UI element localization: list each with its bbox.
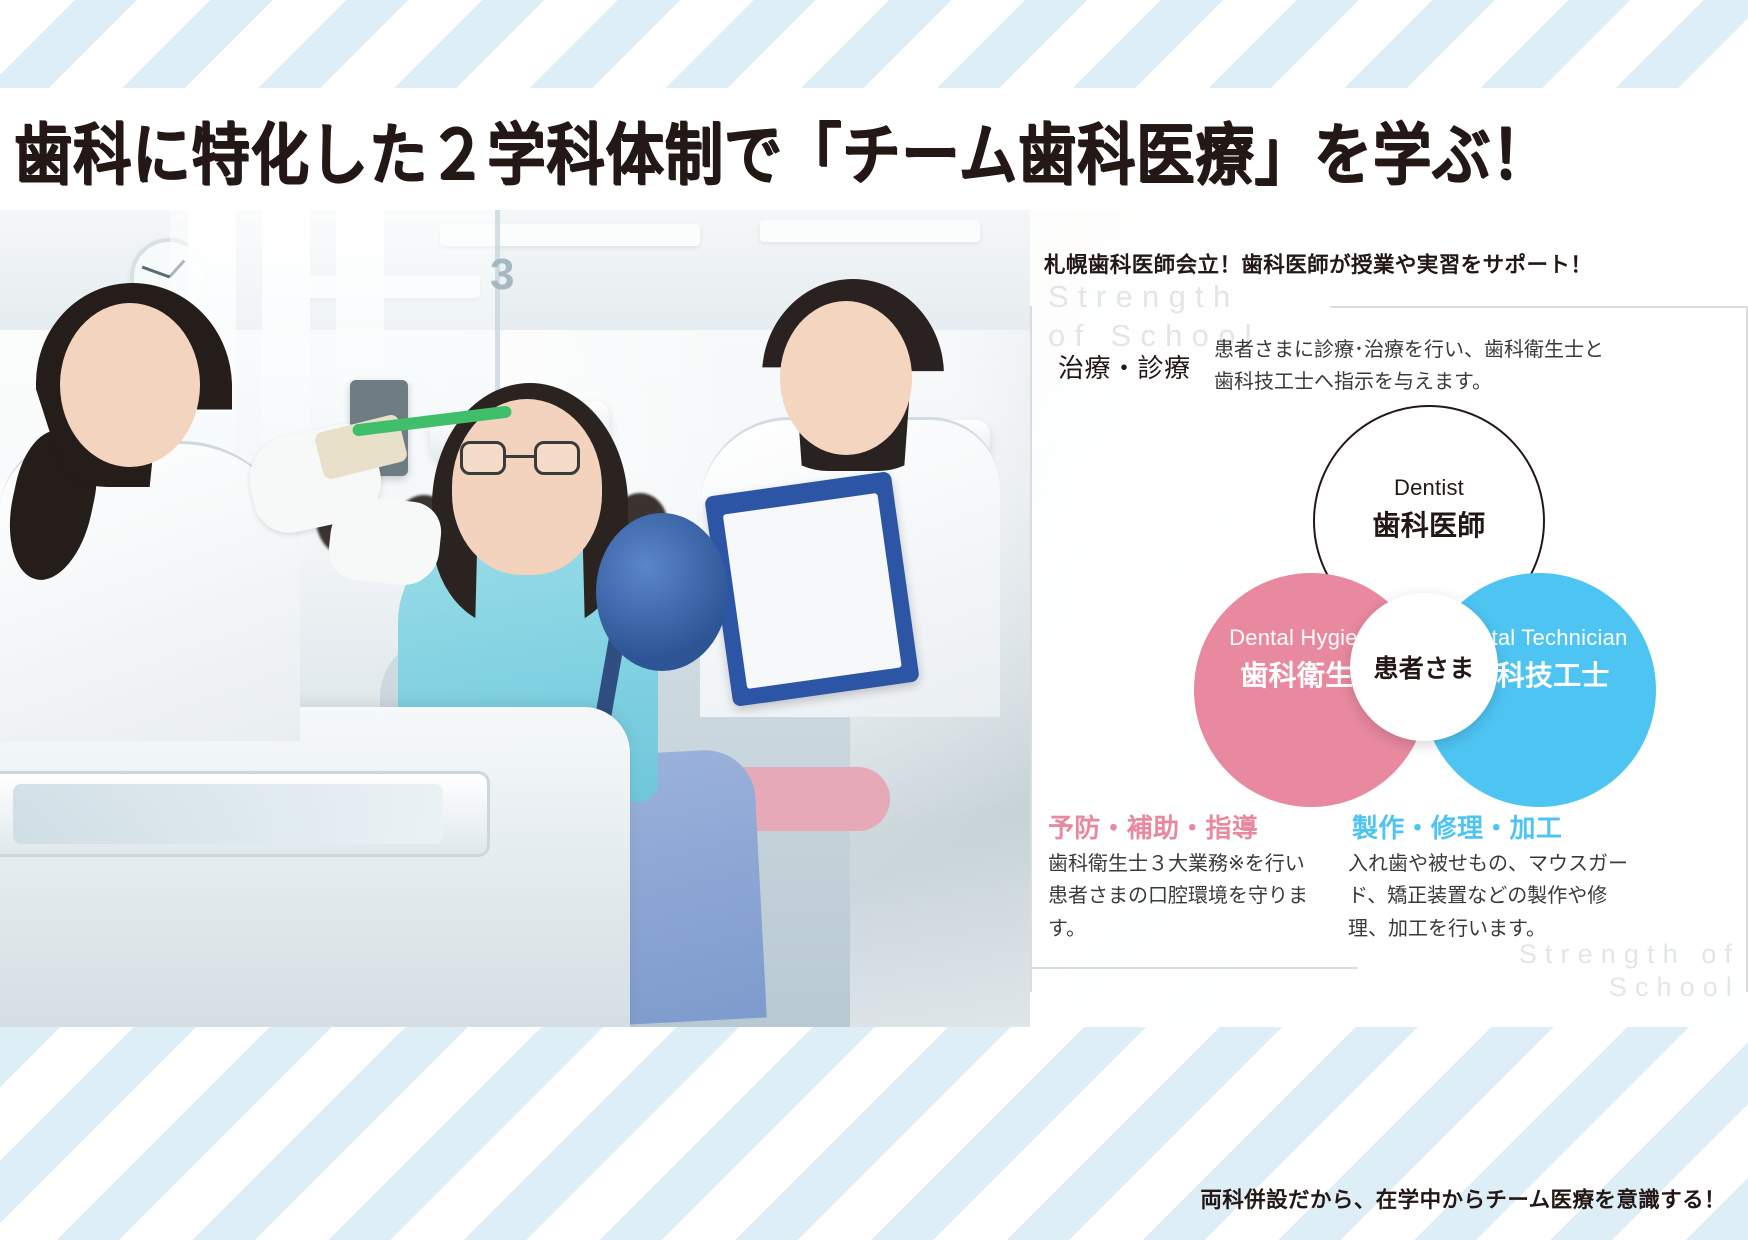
page-title: 歯科に特化した２学科体制で「チーム歯科医療」を学ぶ！ — [0, 100, 1550, 197]
bay-number: 3 — [490, 250, 514, 300]
venn-circle-dentist-labels: Dentist 歯科医師 — [1315, 475, 1543, 544]
gloved-hand — [326, 493, 444, 588]
staff-right-head — [780, 301, 912, 455]
venn-patient-label: 患者さま — [1373, 649, 1474, 685]
instrument-tray — [0, 771, 490, 857]
glasses-right-lens — [534, 441, 580, 475]
glasses-icon — [460, 441, 580, 475]
hand-mirror-head — [596, 513, 728, 671]
watermark-strength-of-school-bottom: Strength of School — [1440, 938, 1740, 1006]
divider-left — [1030, 306, 1032, 992]
glasses-bridge — [506, 455, 534, 458]
team-dentistry-venn-diagram: Dentist 歯科医師 Dental Hygienist 歯科衛生士 Dent… — [1180, 405, 1650, 805]
clipboard — [704, 471, 920, 707]
section-description-treatment: 患者さまに診療･治療を行い、歯科衛生士と歯科技工士へ指示を与えます。 — [1214, 334, 1604, 399]
ceiling-panel — [760, 220, 980, 242]
bottom-caption: 両科併設だから、在学中からチーム医療を意識する！ — [0, 1183, 1748, 1214]
panel-title: 札幌歯科医師会立！歯科医師が授業や実習をサポート！ — [1044, 248, 1592, 279]
divider-bottom — [1030, 967, 1358, 969]
headline-band: 歯科に特化した２学科体制で「チーム歯科医療」を学ぶ！ — [0, 88, 1748, 210]
glasses-left-lens — [460, 441, 506, 475]
venn-dentist-label-en: Dentist — [1315, 475, 1543, 502]
footer-description-prevention: 歯科衛生士３大業務※を行い患者さまの口腔環境を守ります。 — [1048, 848, 1316, 945]
section-label-treatment: 治療・診療 — [1058, 348, 1191, 385]
footer-label-prevention: 予防・補助・指導 — [1048, 808, 1258, 845]
poster-root: 歯科に特化した２学科体制で「チーム歯科医療」を学ぶ！ 3 3 — [0, 0, 1748, 1240]
clipboard-paper — [723, 493, 902, 689]
venn-dentist-label-jp: 歯科医師 — [1315, 504, 1543, 544]
tray-surface — [13, 784, 443, 844]
dental-unit-base — [0, 707, 630, 1027]
clinic-photo: 3 3 — [0, 210, 1030, 1027]
divider-top — [1330, 306, 1748, 308]
venn-circle-patient: 患者さま — [1350, 593, 1498, 741]
footer-label-fabrication: 製作・修理・加工 — [1352, 808, 1562, 845]
staff-left-head — [60, 303, 200, 467]
strength-of-school-panel: 札幌歯科医師会立！歯科医師が授業や実習をサポート！ Strength of Sc… — [1030, 210, 1748, 1027]
footer-description-fabrication: 入れ歯や被せもの、マウスガード、矯正装置などの製作や修理、加工を行います。 — [1348, 848, 1630, 945]
patient-head — [452, 399, 602, 575]
